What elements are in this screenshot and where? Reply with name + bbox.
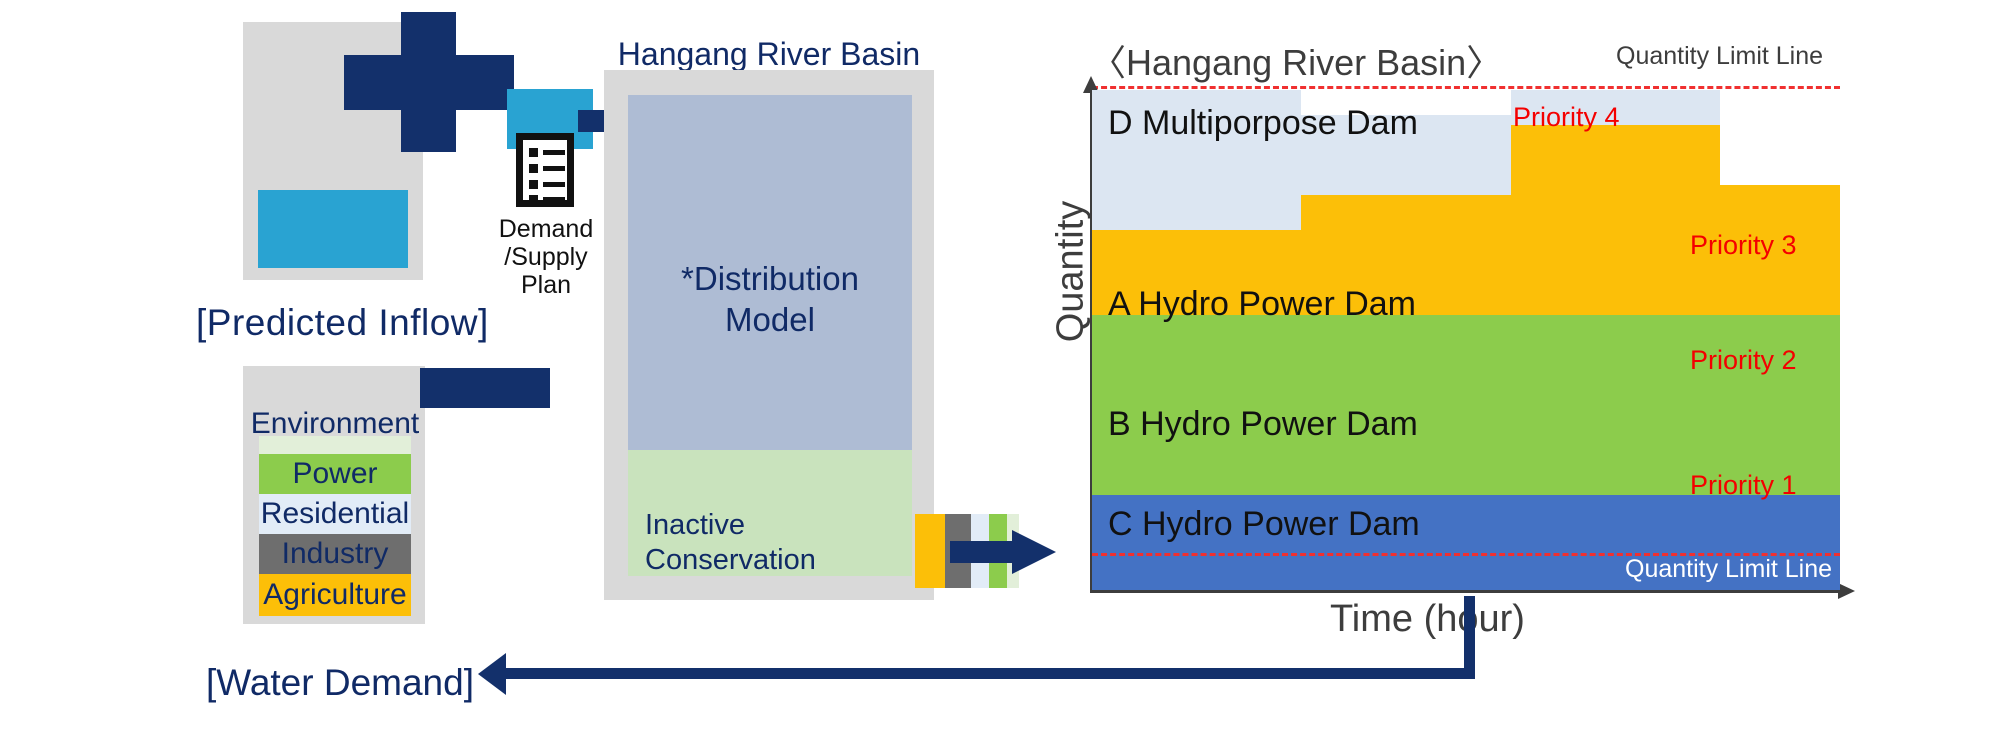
water-demand-caption: [Water Demand] <box>190 662 490 704</box>
band-agriculture-label: Agriculture <box>263 580 406 610</box>
chart-title: 〈Hangang River Basin〉 <box>1090 34 1502 86</box>
band-power-label: Power <box>292 459 377 489</box>
series-label-d-multipurpose-dam: D Multiporpose Dam <box>1108 104 1418 143</box>
inactive-conservation-line1: Inactive <box>645 508 905 543</box>
series-label-b-hydro-power-dam: B Hydro Power Dam <box>1108 405 1418 444</box>
band-power: Power <box>259 454 411 494</box>
band-residential-label: Residential <box>261 499 409 529</box>
band-industry: Industry <box>259 534 411 574</box>
strip-agriculture <box>915 514 945 588</box>
distribution-model-line2: Model <box>628 299 912 340</box>
series-label-a-hydro-power-dam: A Hydro Power Dam <box>1108 285 1416 324</box>
demand-supply-line3: Plan <box>486 271 606 299</box>
priority-2-label: Priority 2 <box>1690 345 1797 376</box>
demand-supply-line2: /Supply <box>486 243 606 271</box>
plus-icon-bar <box>344 55 514 110</box>
demand-supply-plan-label: Demand /Supply Plan <box>486 215 606 299</box>
predicted-inflow-water-level <box>258 190 408 268</box>
area-cell <box>1511 125 1720 315</box>
priority-4-label: Priority 4 <box>1513 102 1620 133</box>
x-axis-arrow <box>1838 583 1855 599</box>
quantity-limit-line-top <box>1092 86 1840 89</box>
priority-1-label: Priority 1 <box>1690 470 1797 501</box>
demand-supply-line1: Demand <box>486 215 606 243</box>
priority-3-label: Priority 3 <box>1690 230 1797 261</box>
series-label-c-hydro-power-dam: C Hydro Power Dam <box>1108 505 1420 544</box>
area-cell <box>1720 315 1840 495</box>
band-environment: Environment <box>259 400 411 448</box>
checklist-icon <box>516 133 574 207</box>
band-industry-label: Industry <box>282 539 389 569</box>
band-agriculture: Agriculture <box>259 574 411 616</box>
feedback-arrow-vertical <box>1464 596 1475 676</box>
quantity-limit-line-bottom-label: Quantity Limit Line <box>1625 555 1832 584</box>
distribution-model-label: *Distribution Model <box>628 258 912 341</box>
basin-to-chart-arrow <box>950 530 1060 572</box>
feedback-arrow-horizontal <box>500 668 1475 679</box>
area-cell <box>1511 315 1720 495</box>
band-environment-label: Environment <box>251 409 419 439</box>
distribution-model-line1: *Distribution <box>628 258 912 299</box>
basin-title: Hangang River Basin <box>604 36 934 73</box>
predicted-inflow-caption: [Predicted Inflow] <box>196 302 486 344</box>
inactive-conservation-line2: Conservation <box>645 543 905 578</box>
x-axis <box>1090 590 1840 593</box>
x-axis-label: Time (hour) <box>1330 598 1525 641</box>
feedback-arrow-head <box>478 653 506 695</box>
water-demand-chip <box>420 368 550 408</box>
band-residential: Residential <box>259 494 411 534</box>
quantity-limit-line-top-label: Quantity Limit Line <box>1616 42 1823 71</box>
y-axis-label: Quantity <box>1049 201 1092 343</box>
inactive-conservation-label: Inactive Conservation <box>645 508 905 579</box>
